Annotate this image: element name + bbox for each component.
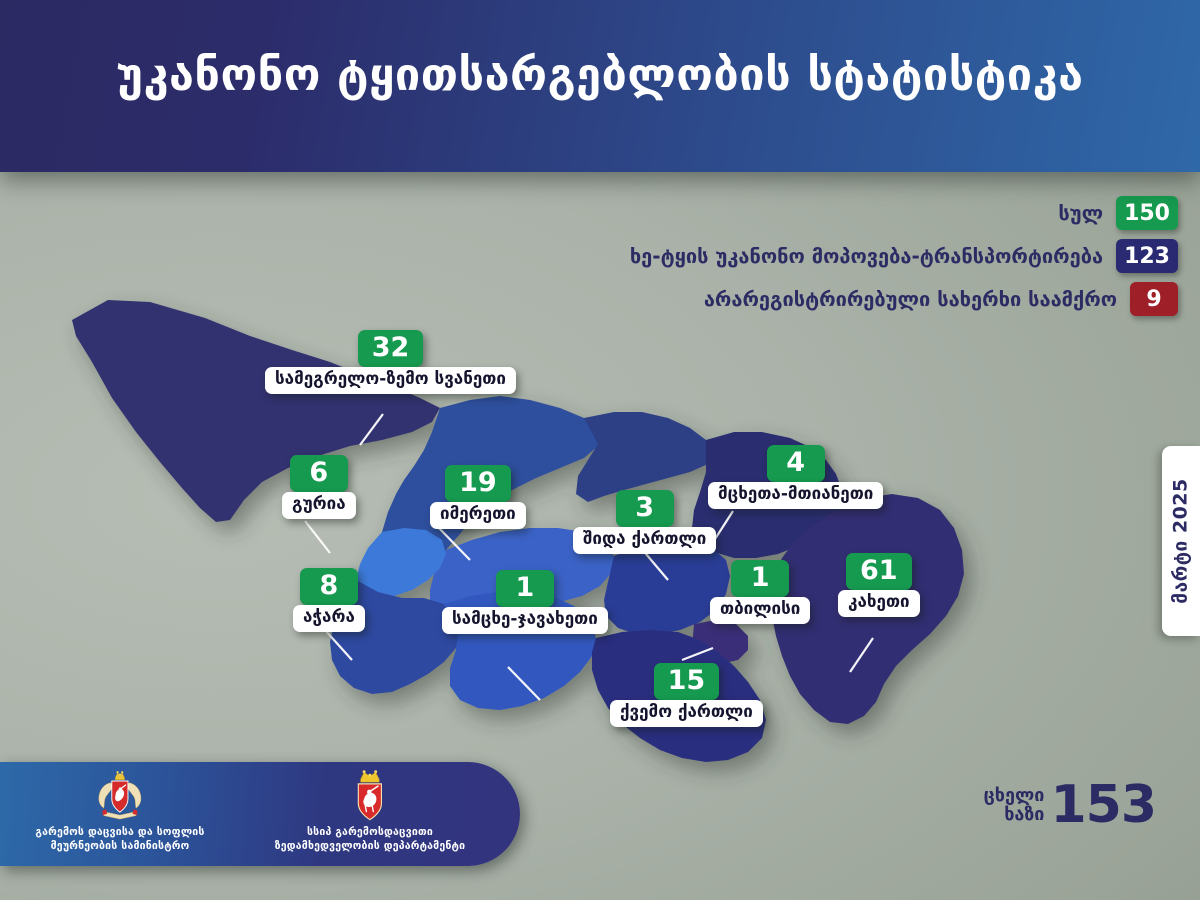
marker-label-imereti: იმერეთი [430,502,526,529]
marker-label-mtskheta-mtianeti: მცხეთა-მთიანეთი [708,482,883,509]
legend-value-sawmill: 9 [1130,282,1178,316]
map-regions-group [72,300,964,762]
org-department: სსიპ გარემოსდაცვითი ზედამხედველობის დეპა… [236,770,504,853]
hotline: ცხელი ხაზი 153 [984,782,1156,830]
marker-value-adjara: 8 [300,568,358,605]
legend-label-sawmill: არარეგისტრირებული სახერხი საამქრო [704,287,1117,311]
marker-label-adjara: აჭარა [293,605,365,632]
marker-label-guria: გურია [282,492,356,519]
map-marker-kakheti[interactable]: 61 კახეთი [838,553,920,617]
date-tab: მარტი 2025 [1162,446,1200,636]
map-marker-adjara[interactable]: 8 აჭარა [293,568,365,632]
department-emblem-icon [341,770,399,822]
map-marker-kvemo-kartli[interactable]: 15 ქვემო ქართლი [610,663,763,727]
map-marker-samtskhe-javakheti[interactable]: 1 სამცხე-ჯავახეთი [442,570,608,634]
legend-row-transport: ხე-ტყის უკანონო მოპოვება-ტრანსპორტირება … [630,239,1178,273]
footer-bar: გარემოს დაცვისა და სოფლის მეურნეობის სამ… [0,762,520,866]
hotline-label: ცხელი ხაზი [984,787,1045,824]
org-ministry-name: გარემოს დაცვისა და სოფლის მეურნეობის სამ… [8,825,232,853]
date-label: მარტი 2025 [1170,478,1192,603]
marker-label-kvemo-kartli: ქვემო ქართლი [610,700,763,727]
legend-row-sawmill: არარეგისტრირებული სახერხი საამქრო 9 [630,282,1178,316]
infographic-root: უკანონო ტყითსარგებლობის სტატისტიკა [0,0,1200,900]
marker-label-kakheti: კახეთი [838,590,920,617]
hotline-number: 153 [1050,782,1156,830]
marker-value-kvemo-kartli: 15 [654,663,720,700]
marker-value-samegrelo-zemo-svaneti: 32 [358,330,424,367]
header-banner: უკანონო ტყითსარგებლობის სტატისტიკა [0,0,1200,172]
map-marker-samegrelo-zemo-svaneti[interactable]: 32 სამეგრელო-ზემო სვანეთი [265,330,516,394]
georgia-coat-of-arms-icon [91,770,149,822]
marker-value-kakheti: 61 [846,553,912,590]
marker-value-imereti: 19 [445,465,511,502]
marker-label-samegrelo-zemo-svaneti: სამეგრელო-ზემო სვანეთი [265,367,516,394]
map-marker-shida-kartli[interactable]: 3 შიდა ქართლი [573,490,716,554]
map-marker-imereti[interactable]: 19 იმერეთი [430,465,526,529]
legend-label-total: სულ [1058,201,1103,225]
marker-label-samtskhe-javakheti: სამცხე-ჯავახეთი [442,607,608,634]
marker-value-samtskhe-javakheti: 1 [496,570,554,607]
marker-value-guria: 6 [290,455,348,492]
org-department-name: სსიპ გარემოსდაცვითი ზედამხედველობის დეპა… [236,825,504,853]
legend-row-total: სულ 150 [630,196,1178,230]
org-ministry: გარემოს დაცვისა და სოფლის მეურნეობის სამ… [8,770,232,853]
legend-value-total: 150 [1116,196,1178,230]
map-marker-tbilisi[interactable]: 1 თბილისი [710,560,810,624]
legend-label-transport: ხე-ტყის უკანონო მოპოვება-ტრანსპორტირება [630,244,1103,268]
marker-value-shida-kartli: 3 [616,490,674,527]
region-racha-lechkhumi [576,412,714,502]
map-marker-guria[interactable]: 6 გურია [282,455,356,519]
legend-value-transport: 123 [1116,239,1178,273]
legend: სულ 150 ხე-ტყის უკანონო მოპოვება-ტრანსპო… [630,196,1178,325]
marker-value-tbilisi: 1 [731,560,789,597]
marker-label-shida-kartli: შიდა ქართლი [573,527,716,554]
marker-label-tbilisi: თბილისი [710,597,810,624]
marker-value-mtskheta-mtianeti: 4 [767,445,825,482]
page-title: უკანონო ტყითსარგებლობის სტატისტიკა [0,48,1200,101]
map-marker-mtskheta-mtianeti[interactable]: 4 მცხეთა-მთიანეთი [708,445,883,509]
